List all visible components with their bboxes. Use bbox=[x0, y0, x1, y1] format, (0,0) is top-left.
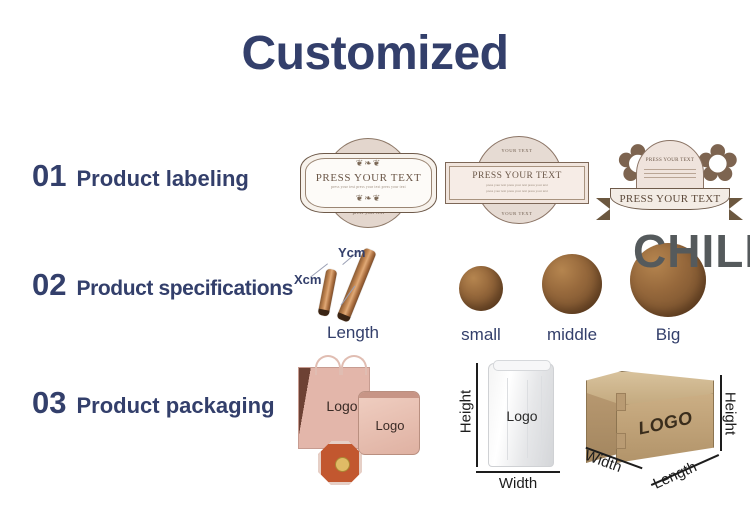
row-product-packaging: 03 Product packaging Logo Logo bbox=[0, 353, 750, 508]
carton-length-label: Length bbox=[651, 458, 700, 492]
circle-bottom-text: YOUR TEXT bbox=[443, 211, 591, 216]
box-lid bbox=[359, 392, 419, 398]
caption-length: Length bbox=[288, 323, 418, 343]
flourish-top-icon: ❦❧❦ bbox=[296, 159, 441, 169]
octagonal-tin[interactable] bbox=[318, 441, 362, 485]
sack-height-label: Height bbox=[458, 386, 475, 438]
carton-height-label: Height bbox=[722, 386, 739, 442]
watermark-text: CHILL bbox=[633, 224, 750, 278]
box-logo-text: Logo bbox=[359, 418, 421, 433]
row-1-number: 01 bbox=[32, 158, 66, 194]
label-oval-ornate[interactable]: press your text press your text ❦❧❦ ❦❧❦ … bbox=[296, 138, 441, 230]
caption-small: small bbox=[435, 325, 527, 345]
circle-top-text: YOUR TEXT bbox=[443, 148, 591, 153]
label-3-banner-text: PRESS YOUR TEXT bbox=[610, 193, 730, 205]
row-2-title: Product specifications bbox=[76, 277, 292, 301]
row-2-number: 02 bbox=[32, 267, 66, 303]
label-laurel-banner[interactable]: ✿ ✿ PRESS YOUR TEXT PRESS YOUR TEXT bbox=[592, 136, 747, 230]
row-1-label: 01 Product labeling bbox=[32, 158, 249, 194]
square-gift-box[interactable]: Logo bbox=[358, 391, 420, 455]
stick-long-dimension: Ycm bbox=[338, 245, 365, 260]
row-3-number: 03 bbox=[32, 385, 66, 421]
stick-long-end bbox=[336, 312, 350, 322]
row-product-labeling: 01 Product labeling press your text pres… bbox=[0, 130, 750, 235]
banner-tail-right bbox=[729, 198, 743, 220]
packaging-carton-box[interactable]: LOGO Height Length Width bbox=[580, 357, 750, 505]
row-1-title: Product labeling bbox=[76, 166, 248, 192]
packaging-woven-sack[interactable]: Logo Height Width bbox=[456, 355, 581, 505]
sack-height-line bbox=[476, 363, 478, 467]
page-title: Customized bbox=[0, 26, 750, 81]
caption-big: Big bbox=[620, 325, 716, 345]
ball-middle[interactable] bbox=[542, 254, 602, 314]
label-1-sub-text: press your text press your text press yo… bbox=[296, 185, 441, 189]
label-2-main-text: PRESS YOUR TEXT bbox=[443, 171, 591, 181]
customized-infographic: Customized 01 Product labeling press you… bbox=[0, 0, 750, 512]
label-circle-rect[interactable]: YOUR TEXT YOUR TEXT PRESS YOUR TEXT pres… bbox=[443, 138, 591, 230]
label-3-shield-text: PRESS YOUR TEXT bbox=[636, 158, 704, 163]
row-3-label: 03 Product packaging bbox=[32, 385, 275, 421]
sack-width-label: Width bbox=[474, 475, 562, 492]
carton-body: LOGO bbox=[586, 371, 714, 463]
row-3-title: Product packaging bbox=[76, 393, 274, 419]
sack-logo-text: Logo bbox=[489, 408, 555, 424]
row-2-label: 02 Product specifications bbox=[32, 267, 293, 303]
stick-short-dimension: Xcm bbox=[294, 272, 321, 287]
label-2-sub-text-2: press your text press your text press yo… bbox=[443, 189, 591, 193]
tin-seal-icon bbox=[335, 457, 350, 472]
sack-width-line bbox=[476, 471, 560, 473]
label-2-sub-text-1: press your text press your text press yo… bbox=[443, 183, 591, 187]
sack-body: Logo bbox=[488, 363, 554, 467]
shield-rule-lines bbox=[644, 169, 696, 181]
label-1-main-text: PRESS YOUR TEXT bbox=[296, 172, 441, 184]
caption-middle: middle bbox=[522, 325, 622, 345]
stick-short-end bbox=[318, 309, 330, 317]
packaging-gift-set[interactable]: Logo Logo bbox=[296, 357, 446, 502]
flourish-bottom-icon: ❦❧❦ bbox=[296, 194, 441, 204]
carton-tape-lower bbox=[616, 433, 626, 449]
bag-handle-left bbox=[315, 355, 341, 375]
carton-tape-upper bbox=[616, 393, 626, 411]
ball-small[interactable] bbox=[459, 266, 503, 311]
bag-handle-right bbox=[341, 355, 367, 375]
banner-tail-left bbox=[596, 198, 610, 220]
sack-top-seam bbox=[493, 360, 551, 371]
